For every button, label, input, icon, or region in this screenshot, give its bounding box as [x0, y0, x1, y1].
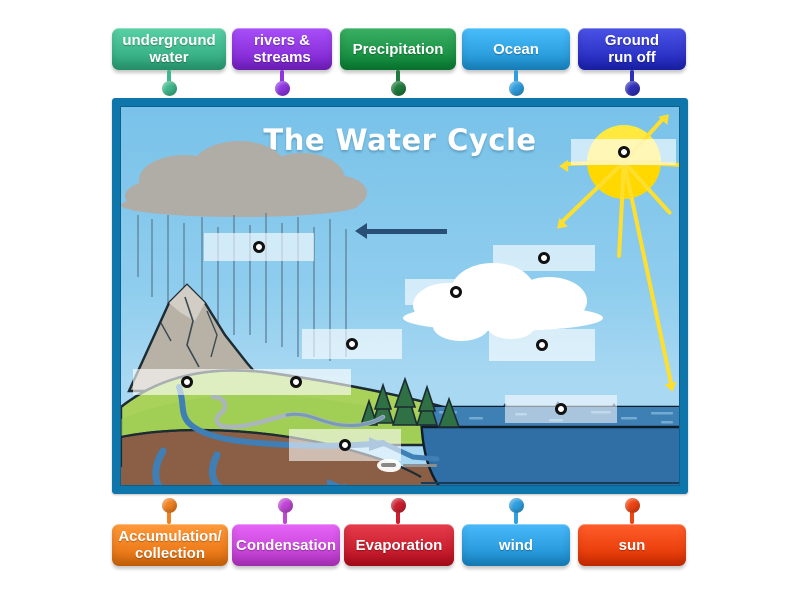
label-chip-evaporation[interactable]: Evaporation [344, 524, 454, 566]
label-pin-ball-underground-water[interactable] [162, 81, 177, 96]
drop-zone-wind[interactable] [405, 279, 507, 305]
label-chip-ocean[interactable]: Ocean [462, 28, 570, 70]
drop-zone-ground-run-off[interactable] [302, 329, 402, 359]
drop-zone-accumulation-collection[interactable] [133, 369, 241, 395]
label-chip-text: underground water [122, 32, 215, 66]
label-chip-accumulation-collection[interactable]: Accumulation/ collection [112, 524, 228, 566]
label-chip-condensation[interactable]: Condensation [232, 524, 340, 566]
drop-zone-marker [536, 339, 548, 351]
label-chip-text: Ocean [493, 41, 539, 58]
label-chip-text: Accumulation/ collection [118, 528, 221, 562]
label-chip-text: Ground run off [605, 32, 659, 66]
label-chip-text: Condensation [236, 537, 336, 554]
label-pin-ball-wind[interactable] [509, 498, 524, 513]
label-chip-text: rivers & streams [253, 32, 311, 66]
drop-zone-ocean[interactable] [505, 395, 617, 423]
label-pin-ball-ocean[interactable] [509, 81, 524, 96]
label-pin-ball-condensation[interactable] [278, 498, 293, 513]
label-chip-text: wind [499, 537, 533, 554]
drop-zone-marker [618, 146, 630, 158]
label-chip-rivers-streams[interactable]: rivers & streams [232, 28, 332, 70]
drop-zone-rivers-streams[interactable] [241, 369, 351, 395]
label-pin-ball-rivers-streams[interactable] [275, 81, 290, 96]
drop-zone-marker [253, 241, 265, 253]
drop-zone-marker [346, 338, 358, 350]
label-chip-sun[interactable]: sun [578, 524, 686, 566]
drop-zone-marker [555, 403, 567, 415]
drop-zone-marker [339, 439, 351, 451]
drop-zone-underground-water[interactable] [289, 429, 401, 461]
drop-zone-marker [181, 376, 193, 388]
label-chip-wind[interactable]: wind [462, 524, 570, 566]
drop-zone-marker [290, 376, 302, 388]
drop-zone-precipitation[interactable] [204, 233, 314, 261]
label-chip-ground-run-off[interactable]: Ground run off [578, 28, 686, 70]
drop-zone-marker [538, 252, 550, 264]
diagram-frame: The Water Cycle [112, 98, 688, 494]
activity-canvas: The Water Cycle [0, 0, 800, 600]
label-pin-ball-precipitation[interactable] [391, 81, 406, 96]
label-chip-precipitation[interactable]: Precipitation [340, 28, 456, 70]
drop-zone-sun[interactable] [571, 139, 676, 165]
label-pin-ball-accumulation-collection[interactable] [162, 498, 177, 513]
label-pin-ball-evaporation[interactable] [391, 498, 406, 513]
label-chip-text: Precipitation [353, 41, 444, 58]
diagram-image: The Water Cycle [120, 106, 680, 486]
drop-zone-evaporation[interactable] [489, 329, 595, 361]
drop-zone-marker [450, 286, 462, 298]
label-chip-underground-water[interactable]: underground water [112, 28, 226, 70]
label-chip-text: Evaporation [356, 537, 443, 554]
label-pin-ball-ground-run-off[interactable] [625, 81, 640, 96]
twinkl-wordmark [403, 464, 437, 467]
label-pin-ball-sun[interactable] [625, 498, 640, 513]
drop-zone-condensation[interactable] [493, 245, 595, 271]
label-chip-text: sun [619, 537, 646, 554]
